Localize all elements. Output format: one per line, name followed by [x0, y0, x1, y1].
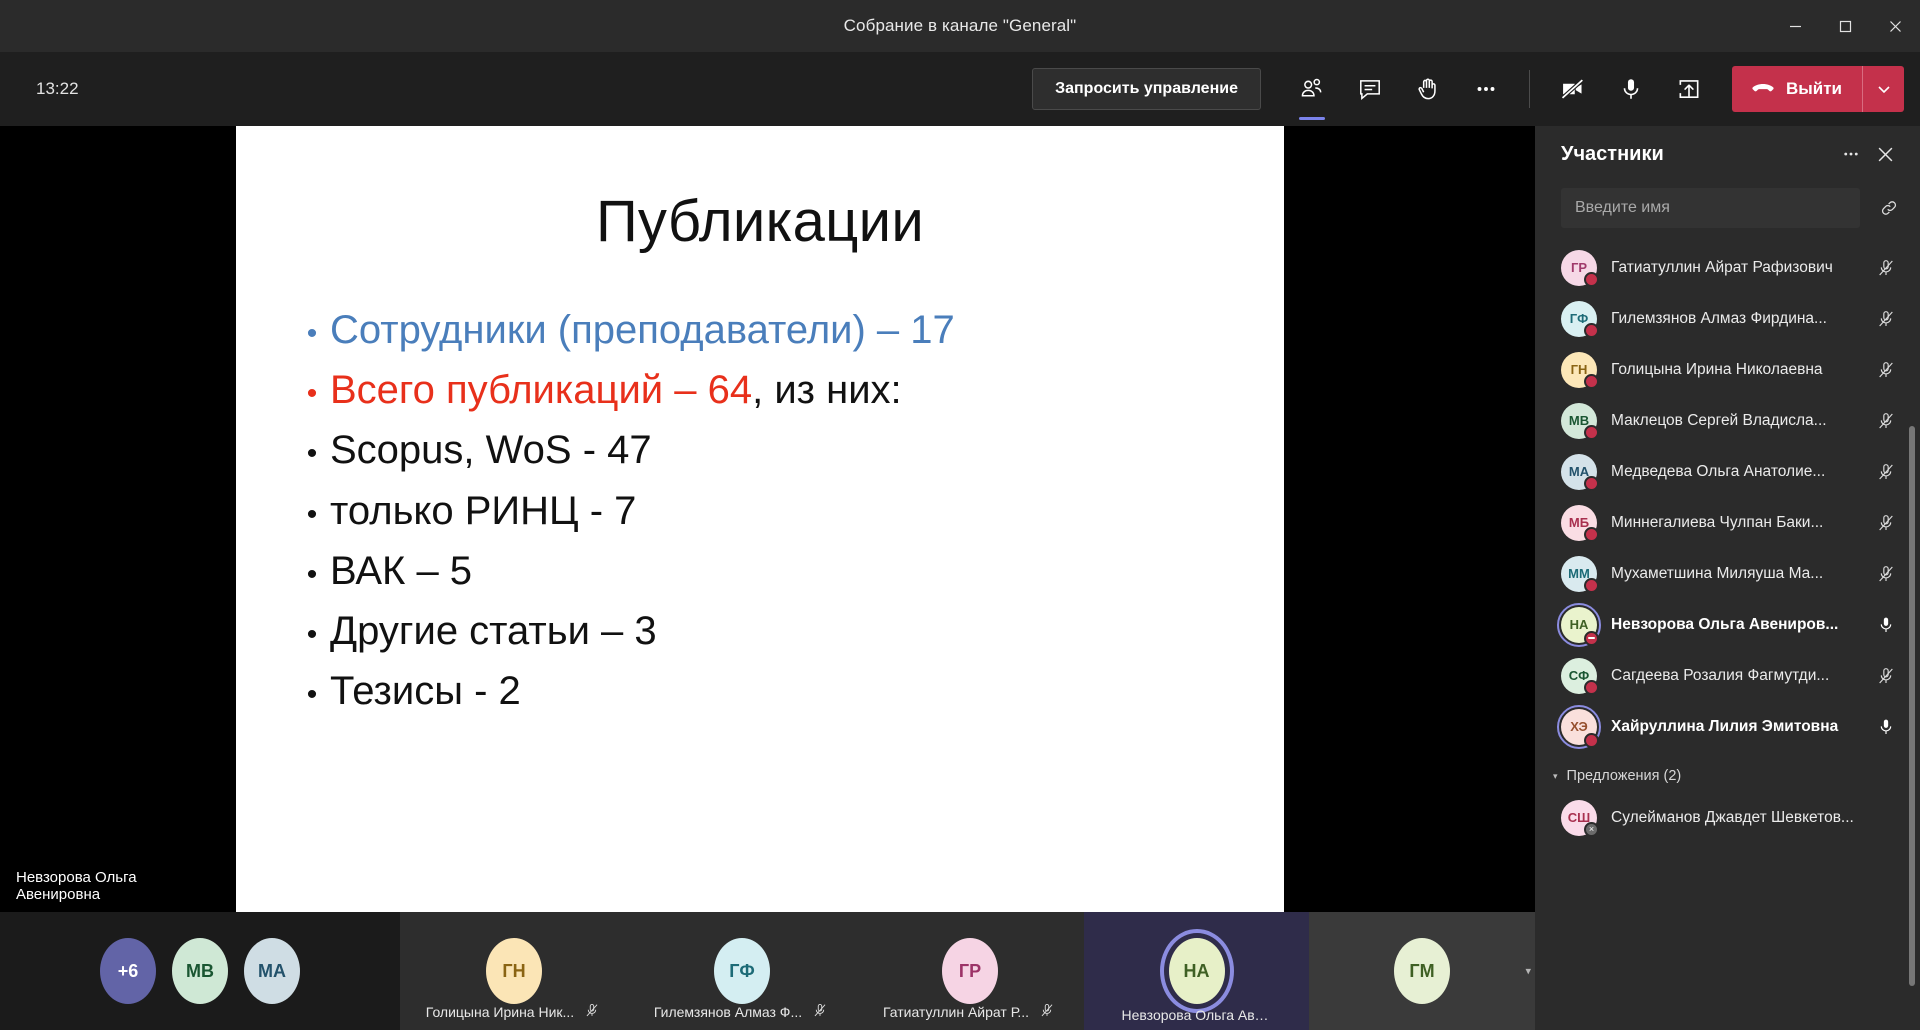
- slide-bullet-item: •Другие статьи – 3: [294, 608, 1284, 655]
- slide-bullet-segment: Тезисы - 2: [330, 669, 521, 713]
- avatar-wrapper: МА: [1561, 454, 1597, 490]
- presence-status-badge: [1584, 527, 1599, 542]
- slide-bullet-text: Scopus, WoS - 47: [330, 427, 652, 474]
- slide-bullet-segment: Scopus, WoS - 47: [330, 428, 652, 472]
- avatar: МВ: [172, 938, 228, 1004]
- slide-bullet-segment: , из них:: [752, 368, 902, 412]
- participant-row[interactable]: СФСагдеева Розалия Фагмутди...: [1535, 650, 1920, 701]
- suggestions-section-header[interactable]: ▾ Предложения (2): [1535, 752, 1920, 792]
- participant-row[interactable]: ГНГолицына Ирина Николаевна: [1535, 344, 1920, 395]
- filmstrip-tile[interactable]: ГФГилемзянов Алмаз Ф...: [628, 912, 856, 1030]
- slide-bullet-text: только РИНЦ - 7: [330, 488, 636, 535]
- presence-status-badge: [1584, 476, 1599, 491]
- participant-row[interactable]: ГРГатиатуллин Айрат Рафизович: [1535, 242, 1920, 293]
- slide-bullet-segment: Другие статьи – 3: [330, 609, 657, 653]
- presence-status-badge: [1584, 272, 1599, 287]
- presence-status-badge: [1584, 733, 1599, 748]
- participant-row[interactable]: МБМиннегалиева Чулпан Баки...: [1535, 497, 1920, 548]
- filmstrip-tile-active-speaker[interactable]: НАНевзорова Ольга Авенир...: [1084, 912, 1309, 1030]
- search-input[interactable]: [1561, 188, 1860, 228]
- avatar: ГФ: [714, 938, 770, 1004]
- participant-name: Сагдеева Розалия Фагмутди...: [1611, 667, 1874, 685]
- slide-bullet-segment: только РИНЦ - 7: [330, 489, 636, 533]
- bullet-icon: •: [294, 620, 330, 650]
- microphone-muted-icon[interactable]: [1874, 564, 1898, 584]
- avatar-wrapper: МБ: [1561, 505, 1597, 541]
- presence-status-badge: [1584, 374, 1599, 389]
- participant-name: Сулейманов Джавдет Шевкетов...: [1611, 809, 1898, 827]
- presence-status-badge: [1584, 323, 1599, 338]
- avatar: ГН: [486, 938, 542, 1004]
- participant-row[interactable]: НАНевзорова Ольга Авениров...: [1535, 599, 1920, 650]
- presence-status-badge: [1584, 680, 1599, 695]
- avatar-wrapper: МВ: [1561, 403, 1597, 439]
- shared-slide: Публикации •Сотрудники (преподаватели) –…: [236, 126, 1284, 912]
- chevron-down-icon: ▾: [1553, 771, 1558, 782]
- participant-name: Голицына Ирина Николаевна: [1611, 361, 1874, 379]
- participants-scrollbar[interactable]: [1909, 426, 1915, 986]
- participant-name: Мухаметшина Миляуша Ма...: [1611, 565, 1874, 583]
- slide-bullet-item: •Всего публикаций – 64, из них:: [294, 367, 1284, 414]
- tile-participant-name: Гилемзянов Алмаз Ф...: [654, 1004, 802, 1020]
- microphone-muted-icon[interactable]: [1874, 666, 1898, 686]
- filmstrip-tile[interactable]: ▾ ГМ: [1309, 912, 1535, 1030]
- suggestions-list: СШСулейманов Джавдет Шевкетов...: [1535, 792, 1920, 843]
- participant-name: Маклецов Сергей Владисла...: [1611, 412, 1874, 430]
- avatar-wrapper: ММ: [1561, 556, 1597, 592]
- slide-title: Публикации: [236, 188, 1284, 255]
- close-icon[interactable]: [1868, 137, 1902, 171]
- suggestions-label: Предложения (2): [1567, 768, 1682, 784]
- avatar-wrapper: СФ: [1561, 658, 1597, 694]
- bullet-icon: •: [294, 439, 330, 469]
- microphone-muted-icon[interactable]: [1874, 513, 1898, 533]
- slide-bullet-text: Всего публикаций – 64, из них:: [330, 367, 902, 414]
- presence-status-badge: [1584, 425, 1599, 440]
- filmstrip-overflow-tile[interactable]: +6МВМА: [0, 912, 400, 1030]
- presence-status-badge: [1584, 578, 1599, 593]
- participant-name: Медведева Ольга Анатолие...: [1611, 463, 1874, 481]
- microphone-muted-icon: [1039, 1002, 1055, 1020]
- shared-screen-stage[interactable]: Публикации •Сотрудники (преподаватели) –…: [0, 126, 1535, 912]
- slide-bullet-text: Тезисы - 2: [330, 668, 521, 715]
- participants-list: ГРГатиатуллин Айрат РафизовичГФГилемзяно…: [1535, 242, 1920, 752]
- slide-bullet-segment: Всего публикаций – 64: [330, 368, 752, 412]
- participant-name: Миннегалиева Чулпан Баки...: [1611, 514, 1874, 532]
- microphone-muted-icon: [584, 1002, 600, 1020]
- tile-name-row: Гилемзянов Алмаз Ф...: [628, 1000, 856, 1023]
- close-icon[interactable]: [1870, 0, 1920, 52]
- teams-meeting-window: Собрание в канале "General" 13:22 Запрос…: [0, 0, 1920, 1030]
- slide-bullet-item: •ВАК – 5: [294, 548, 1284, 595]
- tile-name-row: Гатиатуллин Айрат Р...: [856, 1000, 1084, 1023]
- avatar-wrapper: ГН: [1561, 352, 1597, 388]
- filmstrip-scroll-chevron-down-icon[interactable]: ▾: [1525, 965, 1531, 978]
- people-icon[interactable]: [1289, 66, 1335, 112]
- avatar-wrapper: ГР: [1561, 250, 1597, 286]
- microphone-icon[interactable]: [1874, 615, 1898, 635]
- window-title: Собрание в канале "General": [844, 16, 1077, 36]
- avatar-wrapper: ХЭ: [1557, 705, 1601, 749]
- participant-row[interactable]: ХЭХайруллина Лилия Эмитовна: [1535, 701, 1920, 752]
- microphone-muted-icon[interactable]: [1874, 360, 1898, 380]
- panel-title: Участники: [1561, 143, 1834, 166]
- microphone-muted-icon[interactable]: [1874, 258, 1898, 278]
- tile-participant-name: Гатиатуллин Айрат Р...: [883, 1004, 1029, 1020]
- participant-row[interactable]: СШСулейманов Джавдет Шевкетов...: [1535, 792, 1920, 843]
- slide-bullet-text: Другие статьи – 3: [330, 608, 657, 655]
- share-screen-icon[interactable]: [1666, 66, 1712, 112]
- avatar: НА: [1169, 938, 1225, 1004]
- chat-icon[interactable]: [1347, 66, 1393, 112]
- active-speaker-ring: НА: [1160, 929, 1234, 1013]
- presence-status-badge: [1584, 822, 1599, 837]
- microphone-muted-icon: [812, 1002, 828, 1020]
- tile-name-row: Невзорова Ольга Авенир...: [1084, 1007, 1309, 1023]
- hangup-icon: [1750, 76, 1776, 102]
- slide-bullet-item: •только РИНЦ - 7: [294, 488, 1284, 535]
- meeting-toolbar: 13:22 Запросить управление: [0, 52, 1920, 126]
- presence-status-badge: [1584, 631, 1599, 646]
- microphone-muted-icon[interactable]: [1874, 309, 1898, 329]
- avatar: МА: [244, 938, 300, 1004]
- camera-off-icon[interactable]: [1550, 66, 1596, 112]
- participant-name: Невзорова Ольга Авениров...: [1611, 616, 1874, 634]
- avatar-wrapper: НА: [1557, 603, 1601, 647]
- presenter-name-tag: Невзорова Ольга Авенировна: [0, 860, 236, 912]
- slide-bullet-text: Сотрудники (преподаватели) – 17: [330, 307, 955, 354]
- participant-name: Гилемзянов Алмаз Фирдина...: [1611, 310, 1874, 328]
- avatar-wrapper: СШ: [1561, 800, 1597, 836]
- minimize-icon[interactable]: [1770, 0, 1820, 52]
- leave-meeting-button[interactable]: Выйти: [1732, 66, 1904, 112]
- microphone-icon[interactable]: [1874, 717, 1898, 737]
- maximize-icon[interactable]: [1820, 0, 1870, 52]
- slide-bullet-item: •Тезисы - 2: [294, 668, 1284, 715]
- more-options-icon[interactable]: [1463, 66, 1509, 112]
- avatar: ГР: [942, 938, 998, 1004]
- request-control-button[interactable]: Запросить управление: [1032, 68, 1261, 110]
- participant-search-row: [1535, 182, 1920, 228]
- microphone-muted-icon[interactable]: [1874, 411, 1898, 431]
- slide-bullet-list: •Сотрудники (преподаватели) – 17•Всего п…: [236, 307, 1284, 715]
- avatar: ГМ: [1394, 938, 1450, 1004]
- participant-name: Хайруллина Лилия Эмитовна: [1611, 718, 1874, 736]
- participant-row[interactable]: МММухаметшина Миляуша Ма...: [1535, 548, 1920, 599]
- tile-participant-name: Голицына Ирина Ник...: [426, 1004, 574, 1020]
- filmstrip-tile[interactable]: ГРГатиатуллин Айрат Р...: [856, 912, 1084, 1030]
- tile-participant-name: Невзорова Ольга Авенир...: [1122, 1007, 1272, 1023]
- leave-options-chevron-down-icon[interactable]: [1862, 66, 1904, 112]
- participant-row[interactable]: ГФГилемзянов Алмаз Фирдина...: [1535, 293, 1920, 344]
- filmstrip-tile[interactable]: ГНГолицына Ирина Ник...: [400, 912, 628, 1030]
- participants-panel: Участники ГРГатиатуллин Айрат РафизовичГ…: [1535, 126, 1920, 1030]
- more-options-icon[interactable]: [1834, 137, 1868, 171]
- tile-name-row: Голицына Ирина Ник...: [400, 1000, 628, 1023]
- bullet-icon: •: [294, 680, 330, 710]
- bullet-icon: •: [294, 379, 330, 409]
- slide-bullet-text: ВАК – 5: [330, 548, 472, 595]
- bullet-icon: •: [294, 500, 330, 530]
- slide-bullet-item: •Сотрудники (преподаватели) – 17: [294, 307, 1284, 354]
- slide-bullet-item: •Scopus, WoS - 47: [294, 427, 1284, 474]
- microphone-icon[interactable]: [1608, 66, 1654, 112]
- participant-row[interactable]: МАМедведева Ольга Анатолие...: [1535, 446, 1920, 497]
- slide-bullet-segment: Сотрудники (преподаватели) – 17: [330, 308, 955, 352]
- bullet-icon: •: [294, 560, 330, 590]
- participant-filmstrip: +6МВМА ГНГолицына Ирина Ник... ГФГилемзя…: [0, 912, 1535, 1030]
- raise-hand-icon[interactable]: [1405, 66, 1451, 112]
- leave-label: Выйти: [1786, 79, 1842, 99]
- participant-row[interactable]: МВМаклецов Сергей Владисла...: [1535, 395, 1920, 446]
- participant-name: Гатиатуллин Айрат Рафизович: [1611, 259, 1874, 277]
- window-controls: [1770, 0, 1920, 52]
- overflow-count-avatar: +6: [100, 938, 156, 1004]
- microphone-muted-icon[interactable]: [1874, 462, 1898, 482]
- title-bar: Собрание в канале "General": [0, 0, 1920, 52]
- participants-panel-header: Участники: [1535, 126, 1920, 182]
- bullet-icon: •: [294, 319, 330, 349]
- slide-bullet-segment: ВАК – 5: [330, 549, 472, 593]
- avatar-wrapper: ГФ: [1561, 301, 1597, 337]
- share-link-icon[interactable]: [1870, 189, 1908, 227]
